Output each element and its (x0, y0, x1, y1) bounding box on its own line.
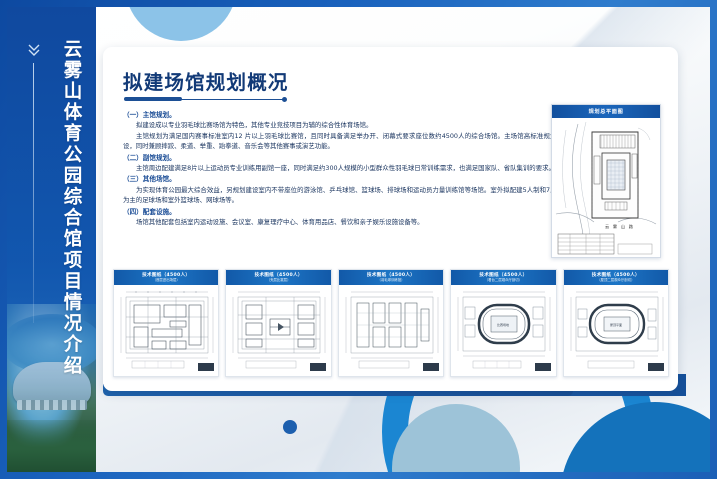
sidebar-vertical-title: 云雾山体育公园综合馆项目情况介绍 (47, 39, 81, 377)
site-plan-drawing: 云 雾 山 路 (552, 118, 660, 256)
section-heading-2: （二）副馆规划。 (123, 153, 563, 163)
title-underline (124, 97, 290, 101)
thumbnail-4-header: 技术图纸（4500人） （看台二层观众厅剖切） (451, 270, 555, 285)
thumbnail-1-drawing (114, 285, 218, 376)
thumbnail-3[interactable]: 技术图纸（4500人） （羽毛球训练馆） (338, 269, 444, 377)
thumbnail-1-header: 技术图纸（4500人） （首层进出场层） (114, 270, 218, 285)
thumbnail-4-subtitle: （看台二层观众厅剖切） (485, 278, 522, 282)
thumbnail-2[interactable]: 技术图纸（4500人） （夹层比赛层） (225, 269, 331, 377)
floorplan-svg-1 (114, 285, 219, 376)
site-plan-caption: 规划总平面图 (552, 105, 660, 118)
content-card: 拟建场馆规划概况 （一）主馆规划。 拟建设成以专业羽毛球比赛场馆为特色，其他专业… (103, 47, 678, 391)
thumbnail-4[interactable]: 技术图纸（4500人） （看台二层观众厅剖切） 比赛场地 (450, 269, 556, 377)
section-heading-3: （三）其他场馆。 (123, 174, 563, 184)
title-underline-thick (124, 97, 182, 101)
thumbnail-2-drawing (226, 285, 330, 376)
section-heading-1: （一）主馆规划。 (123, 110, 563, 120)
thumbnail-5[interactable]: 技术图纸（4500人） （屋顶二层观众厅剖切） 屋顶平面 (563, 269, 669, 377)
thumbnail-3-header: 技术图纸（4500人） （羽毛球训练馆） (339, 270, 443, 285)
thumbnail-3-subtitle: （羽毛球训练馆） (377, 278, 404, 282)
title-underline-thin (180, 99, 284, 101)
thumbnail-1-subtitle: （首层进出场层） (153, 278, 180, 282)
svg-text:屋顶平面: 屋顶平面 (610, 322, 622, 327)
thumbnail-5-subtitle: （屋顶二层观众厅剖切） (597, 278, 634, 282)
thumbnail-4-drawing: 比赛场地 (451, 285, 555, 376)
site-plan-panel[interactable]: 规划总平面图 (551, 104, 661, 258)
section-3-paragraph-1: 为实现体育公园最大综合效益，另规划建设室内不带座位的游泳馆、乒乓球馆、篮球场、排… (123, 185, 563, 206)
floorplan-svg-3 (339, 285, 444, 376)
svg-text:云 雾 山 路: 云 雾 山 路 (605, 223, 634, 230)
section-1-paragraph-2: 主馆规划为满足国内赛事标准室内12 片以上羽毛球比赛馆，且同时具备满足举办开、闭… (123, 131, 563, 152)
thumbnail-3-drawing (339, 285, 443, 376)
thumbnail-strip: 技术图纸（4500人） （首层进出场层） (113, 269, 669, 381)
floorplan-svg-5: 屋顶平面 (564, 285, 669, 376)
thumbnail-1[interactable]: 技术图纸（4500人） （首层进出场层） (113, 269, 219, 377)
thumbnail-2-header: 技术图纸（4500人） （夹层比赛层） (226, 270, 330, 285)
section-heading-4: （四）配套设施。 (123, 207, 563, 217)
floorplan-svg-4: 比赛场地 (451, 285, 556, 376)
poster-page: 云雾山体育公园综合馆项目情况介绍 拟建场馆规划概况 （一）主馆规划。 拟建设成以… (0, 0, 717, 479)
section-1-paragraph-1: 拟建设成以专业羽毛球比赛场馆为特色，其他专业竞技项目为辅的综合性体育场馆。 (123, 120, 563, 130)
sidebar-title-band: 云雾山体育公园综合馆项目情况介绍 (7, 7, 96, 472)
body-text: （一）主馆规划。 拟建设成以专业羽毛球比赛场馆为特色，其他专业竞技项目为辅的综合… (123, 109, 563, 227)
section-2-paragraph-1: 主馆周边配建满足8片以上运动员专业训练用副馆一座，同时满足约300人规模的小型群… (123, 163, 563, 173)
double-chevron-down-icon (27, 43, 41, 59)
title-underline-dot (282, 97, 287, 102)
thumbnail-2-subtitle: （夹层比赛层） (267, 278, 291, 282)
section-4-paragraph-1: 场馆其他配套包括室内运动设施、会议室、康复理疗中心、体育用品店、餐饮和亲子娱乐设… (123, 217, 563, 227)
page-title: 拟建场馆规划概况 (123, 66, 289, 95)
thumbnail-5-header: 技术图纸（4500人） （屋顶二层观众厅剖切） (564, 270, 668, 285)
decorative-dot (283, 420, 297, 434)
sidebar-vertical-rule (33, 63, 34, 323)
thumbnail-5-drawing: 屋顶平面 (564, 285, 668, 376)
floorplan-svg-2 (226, 285, 331, 376)
site-plan-svg: 云 雾 山 路 (552, 118, 658, 256)
svg-text:比赛场地: 比赛场地 (497, 322, 509, 327)
